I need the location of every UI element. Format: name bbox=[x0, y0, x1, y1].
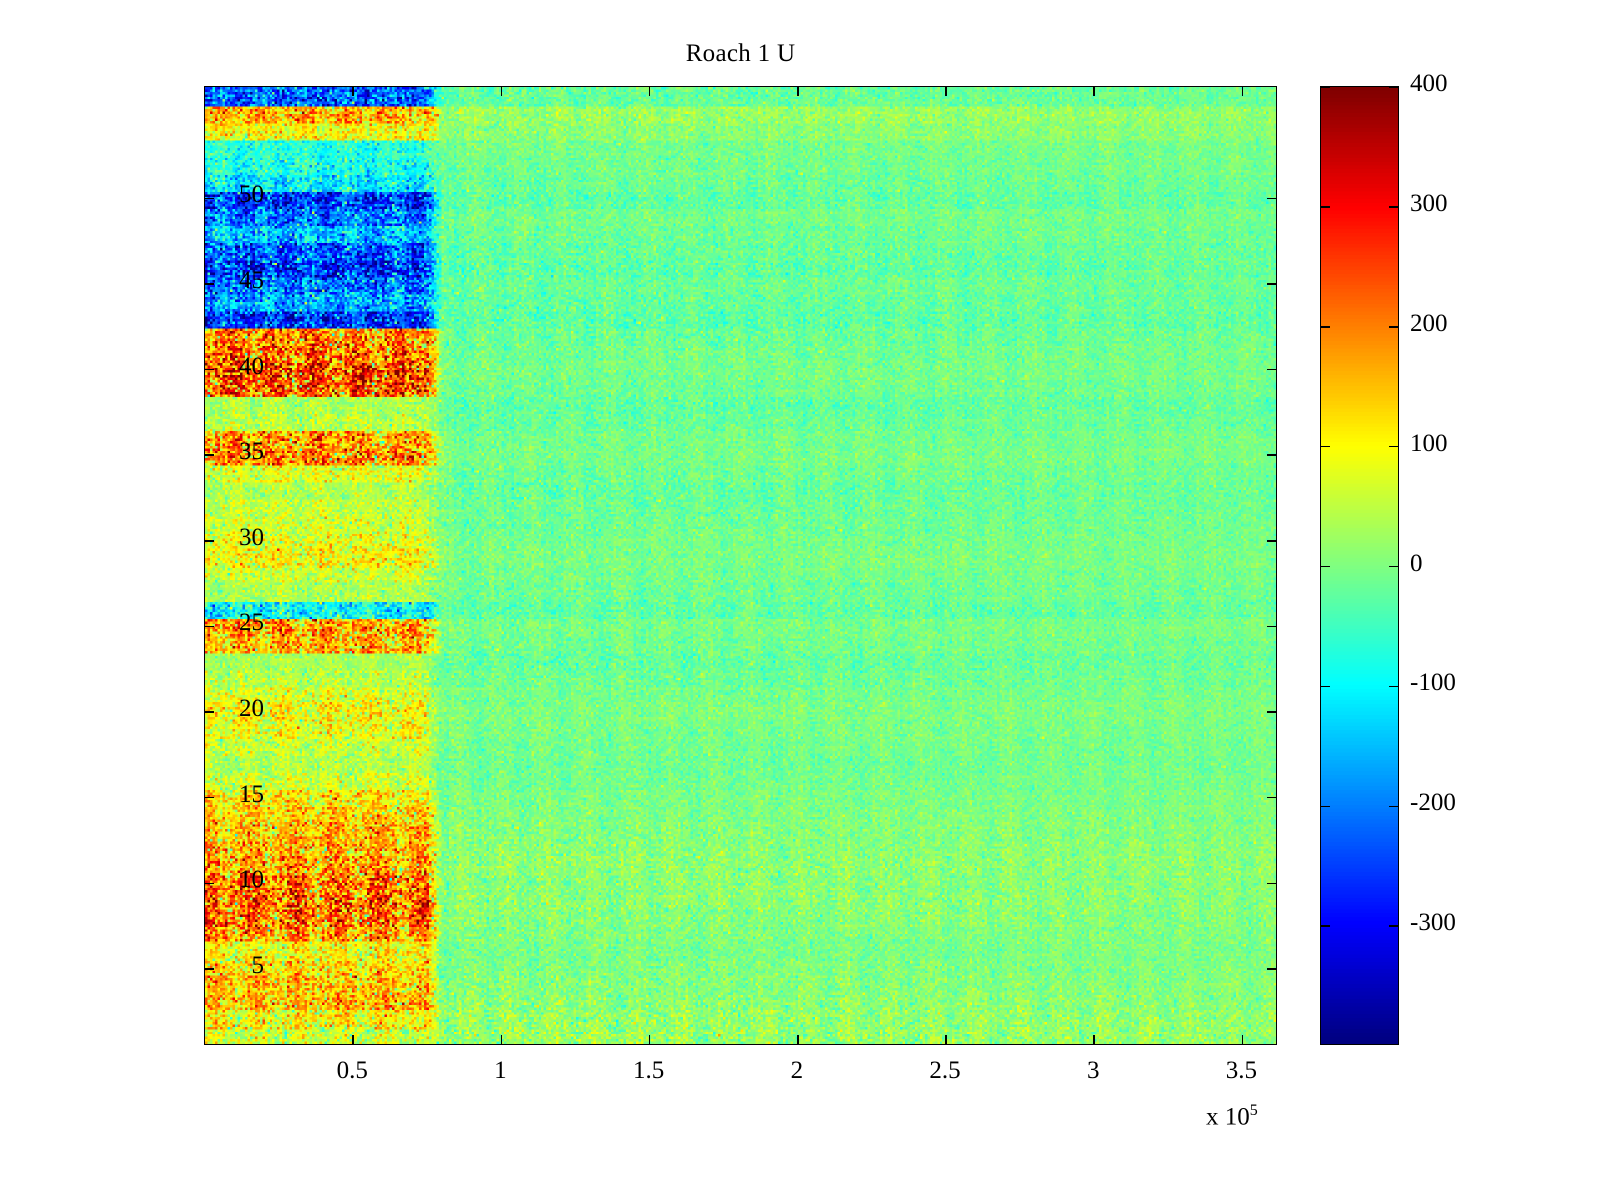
x-tick-label: 1 bbox=[440, 1057, 560, 1085]
colorbar-tick-mark-right bbox=[1389, 446, 1398, 448]
y-tick-mark-right bbox=[1267, 540, 1276, 542]
y-tick-mark-right bbox=[1267, 283, 1276, 285]
colorbar-tick-mark-left bbox=[1321, 446, 1330, 448]
y-tick-mark-right bbox=[1267, 626, 1276, 628]
heatmap-image bbox=[205, 87, 1276, 1044]
colorbar-tick-mark-right bbox=[1389, 806, 1398, 808]
colorbar-tick-label: -200 bbox=[1410, 789, 1456, 817]
colorbar-tick-label: 300 bbox=[1410, 190, 1448, 218]
x-tick-mark-top bbox=[945, 87, 947, 96]
y-tick-mark-right bbox=[1267, 711, 1276, 713]
y-tick-mark-right bbox=[1267, 968, 1276, 970]
x-tick-mark bbox=[501, 1035, 503, 1044]
colorbar-tick-mark-left bbox=[1321, 566, 1330, 568]
colorbar-tick-label: -100 bbox=[1410, 669, 1456, 697]
y-tick-mark-right bbox=[1267, 369, 1276, 371]
x-tick-mark-top bbox=[1242, 87, 1244, 96]
colorbar-tick-mark-left bbox=[1321, 806, 1330, 808]
colorbar-tick-mark-right bbox=[1389, 206, 1398, 208]
colorbar-tick-mark-right bbox=[1389, 566, 1398, 568]
colorbar-tick-mark-left bbox=[1321, 925, 1330, 927]
y-tick-label: 35 bbox=[204, 438, 264, 466]
y-tick-mark-right bbox=[1267, 797, 1276, 799]
colorbar-tick-mark-left bbox=[1321, 206, 1330, 208]
x-tick-mark bbox=[352, 1035, 354, 1044]
x-tick-mark bbox=[1093, 1035, 1095, 1044]
y-tick-label: 40 bbox=[204, 353, 264, 381]
y-tick-label: 45 bbox=[204, 267, 264, 295]
y-tick-label: 10 bbox=[204, 866, 264, 894]
x-exponent-base: x 10 bbox=[1206, 1103, 1250, 1130]
y-tick-label: 50 bbox=[204, 181, 264, 209]
y-tick-label: 15 bbox=[204, 781, 264, 809]
colorbar-tick-label: 400 bbox=[1410, 70, 1448, 98]
colorbar-tick-mark-left bbox=[1321, 326, 1330, 328]
colorbar-gradient bbox=[1321, 87, 1398, 1044]
colorbar-tick-mark-left bbox=[1321, 686, 1330, 688]
x-tick-label: 0.5 bbox=[292, 1057, 412, 1085]
colorbar-tick-label: -300 bbox=[1410, 909, 1456, 937]
y-tick-label: 30 bbox=[204, 524, 264, 552]
x-tick-mark bbox=[649, 1035, 651, 1044]
y-tick-label: 5 bbox=[204, 952, 264, 980]
x-exponent-power: 5 bbox=[1250, 1102, 1258, 1119]
colorbar-tick-mark-right bbox=[1389, 326, 1398, 328]
x-tick-label: 2.5 bbox=[885, 1057, 1005, 1085]
colorbar-tick-mark-right bbox=[1389, 925, 1398, 927]
x-tick-mark-top bbox=[797, 87, 799, 96]
colorbar-tick-label: 0 bbox=[1410, 550, 1423, 578]
y-tick-label: 25 bbox=[204, 609, 264, 637]
x-tick-mark-top bbox=[501, 87, 503, 96]
x-tick-label: 3 bbox=[1033, 1057, 1153, 1085]
page-title: Roach 1 U bbox=[204, 40, 1277, 68]
colorbar-tick-label: 100 bbox=[1410, 430, 1448, 458]
x-tick-label: 3.5 bbox=[1181, 1057, 1301, 1085]
figure-canvas: Roach 1 U 5101520253035404550 0.511.522.… bbox=[0, 0, 1600, 1200]
y-tick-mark-right bbox=[1267, 883, 1276, 885]
heatmap-axes[interactable] bbox=[204, 86, 1277, 1045]
colorbar-tick-mark-left bbox=[1321, 86, 1330, 88]
x-tick-label: 1.5 bbox=[589, 1057, 709, 1085]
y-tick-mark-right bbox=[1267, 454, 1276, 456]
y-tick-label: 20 bbox=[204, 695, 264, 723]
x-tick-mark-top bbox=[649, 87, 651, 96]
colorbar-tick-mark-right bbox=[1389, 86, 1398, 88]
colorbar-tick-mark-right bbox=[1389, 686, 1398, 688]
x-tick-label: 2 bbox=[737, 1057, 857, 1085]
colorbar-tick-label: 200 bbox=[1410, 310, 1448, 338]
x-tick-mark bbox=[797, 1035, 799, 1044]
x-tick-mark-top bbox=[1093, 87, 1095, 96]
x-axis-exponent-label: x 105 bbox=[1206, 1102, 1258, 1131]
x-tick-mark bbox=[1242, 1035, 1244, 1044]
colorbar[interactable] bbox=[1320, 86, 1399, 1045]
x-tick-mark bbox=[945, 1035, 947, 1044]
x-tick-mark-top bbox=[352, 87, 354, 96]
y-tick-mark-right bbox=[1267, 198, 1276, 200]
